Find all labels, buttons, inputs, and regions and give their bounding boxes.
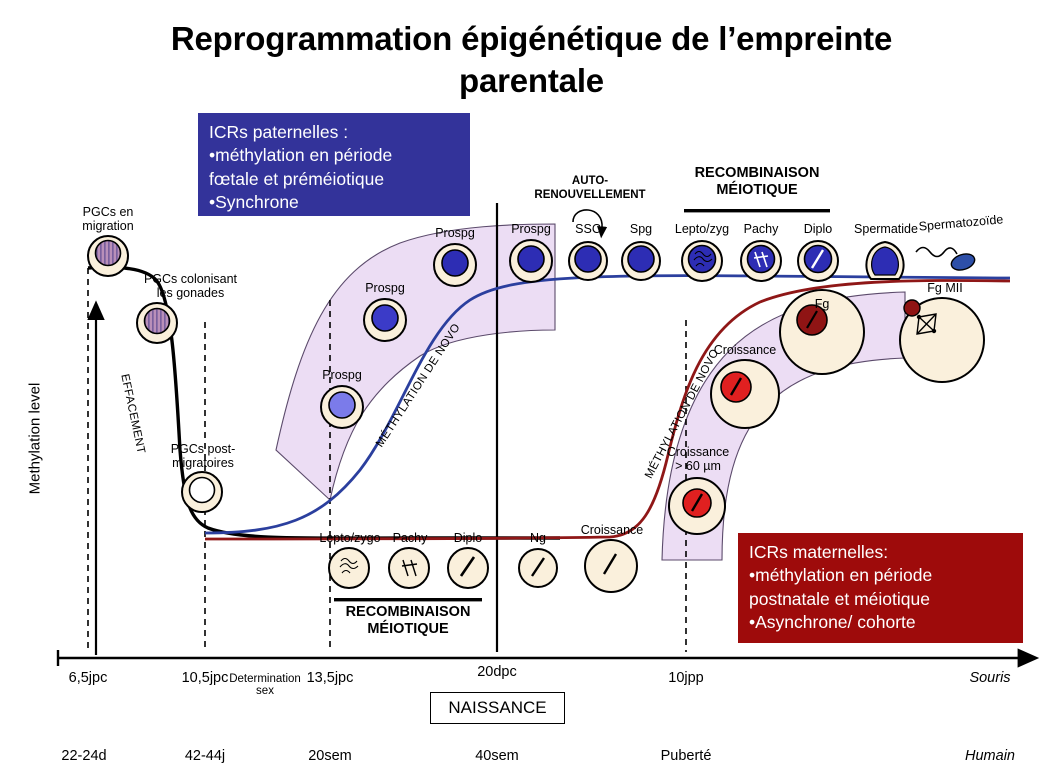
paternal-heading: ICRs paternelles :: [209, 121, 459, 144]
recomb-top-line1: RECOMBINAISON: [672, 165, 842, 182]
female-cell-croissance-60um: [669, 478, 725, 534]
male-cell-pachy: [741, 241, 781, 281]
male-label-prospg-2: Prospg: [349, 281, 421, 295]
female-label-croissance-60um: Croissance > 60 µm: [655, 445, 741, 473]
maternal-bullet-1: •méthylation en période: [749, 564, 1012, 587]
male-label-prospg-4: Prospg: [495, 222, 567, 236]
male-label-ssc: SSC: [558, 222, 618, 236]
maternal-icr-callout: ICRs maternelles: •méthylation en périod…: [738, 533, 1023, 643]
pgc-migration-line2: migration: [58, 219, 158, 233]
auto-renouvellement-heading: AUTO- RENOUVELLEMENT: [534, 175, 646, 202]
pgc-post-line1: PGCs post-: [148, 442, 258, 456]
auto-renew-line2: RENOUVELLEMENT: [534, 189, 646, 203]
male-cell-prospg-3: [434, 244, 476, 286]
determination-line1: Determination: [222, 673, 308, 685]
pgc-migration-label: PGCs en migration: [58, 205, 158, 233]
pgc-gonads-line1: PGCs colonisant: [128, 272, 253, 286]
female-label-croissance-1: Croissance: [572, 523, 652, 537]
maternal-heading: ICRs maternelles:: [749, 541, 1012, 564]
male-cell-spg: [622, 242, 660, 280]
pgc-gonads-label: PGCs colonisant les gonades: [128, 272, 253, 300]
pgc-migration-line1: PGCs en: [58, 205, 158, 219]
pgc-cell-postmigratory: [182, 472, 222, 512]
female-cell-croissance-1: [585, 540, 637, 592]
tick-human-4: 40sem: [457, 748, 537, 764]
female-label-ng: Ng: [512, 531, 564, 545]
species-mouse-label: Souris: [950, 670, 1030, 686]
maternal-bullet-1b: postnatale et méiotique: [749, 588, 1012, 611]
male-cell-prospg-2: [364, 299, 406, 341]
female-label-fg-mii: Fg MII: [914, 281, 976, 295]
male-cell-lepto-zyg: [682, 241, 722, 281]
determination-line2: sex: [222, 685, 308, 697]
species-human-label: Humain: [950, 748, 1030, 764]
female-label-fg: Fg: [794, 297, 850, 311]
female-cell-pachy: [389, 548, 429, 588]
male-cell-diplo: [798, 241, 838, 281]
tick-human-2: 42-44j: [165, 748, 245, 764]
naissance-box: NAISSANCE: [430, 692, 565, 724]
male-label-diplo: Diplo: [788, 222, 848, 236]
auto-renew-line1: AUTO-: [534, 175, 646, 189]
slide-canvas: Reprogrammation épigénétique de l’emprei…: [0, 0, 1063, 777]
male-cell-prospg-4: [510, 240, 552, 282]
pgc-gonads-line2: les gonades: [128, 286, 253, 300]
recombinaison-bottom-underline: [334, 598, 482, 601]
tick-human-1: 22-24d: [44, 748, 124, 764]
paternal-bullet-2: •Synchrone: [209, 191, 459, 214]
male-cell-spermatide: [866, 242, 903, 279]
paternal-bullet-1b: fœtale et préméiotique: [209, 168, 459, 191]
female-croissance-60um-line2: > 60 µm: [655, 459, 741, 473]
male-cell-ssc: [569, 210, 607, 280]
tick-mouse-1: 6,5jpc: [48, 670, 128, 686]
recombinaison-top-underline: [684, 209, 830, 212]
determination-sex-label: Determination sex: [222, 673, 308, 697]
y-axis-label: Methylation level: [27, 354, 44, 524]
male-cell-spermatozoide: [916, 248, 977, 273]
female-croissance-60um-line1: Croissance: [655, 445, 741, 459]
female-cell-fg-mii: [900, 298, 984, 382]
male-cell-prospg-1: [321, 386, 363, 428]
female-label-diplo: Diplo: [438, 531, 498, 545]
recomb-top-line2: MÉIOTIQUE: [672, 182, 842, 199]
female-cell-diplo: [448, 548, 488, 588]
pgc-cell-gonads: [137, 303, 177, 343]
female-label-croissance-2: Croissance: [702, 343, 788, 357]
male-label-prospg-3: Prospg: [419, 226, 491, 240]
tick-mouse-4: 20dpc: [457, 664, 537, 680]
figure-svg: [0, 0, 1063, 777]
tick-human-5: Puberté: [646, 748, 726, 764]
recombinaison-meiotique-bottom: RECOMBINAISON MÉIOTIQUE: [322, 604, 494, 638]
female-cell-croissance-2: [711, 360, 779, 428]
pgc-post-line2: migratoires: [148, 456, 258, 470]
paternal-bullet-1: •méthylation en période: [209, 144, 459, 167]
female-label-pachy: Pachy: [379, 531, 441, 545]
male-label-pachy: Pachy: [729, 222, 793, 236]
female-label-lepto-zygo: Lepto/zygo: [311, 531, 389, 545]
male-label-prospg-1: Prospg: [306, 368, 378, 382]
recomb-bottom-line1: RECOMBINAISON: [322, 604, 494, 621]
pgc-cell-migration: [88, 236, 128, 276]
recombinaison-meiotique-top: RECOMBINAISON MÉIOTIQUE: [672, 165, 842, 199]
recomb-bottom-line2: MÉIOTIQUE: [322, 621, 494, 638]
pgc-postmigratory-label: PGCs post- migratoires: [148, 442, 258, 470]
paternal-icr-callout: ICRs paternelles : •méthylation en pério…: [198, 113, 470, 216]
female-cell-ng: [519, 549, 557, 587]
tick-mouse-5: 10jpp: [646, 670, 726, 686]
maternal-bullet-2: •Asynchrone/ cohorte: [749, 611, 1012, 634]
female-cell-lepto-zygo: [329, 548, 369, 588]
tick-human-3: 20sem: [290, 748, 370, 764]
